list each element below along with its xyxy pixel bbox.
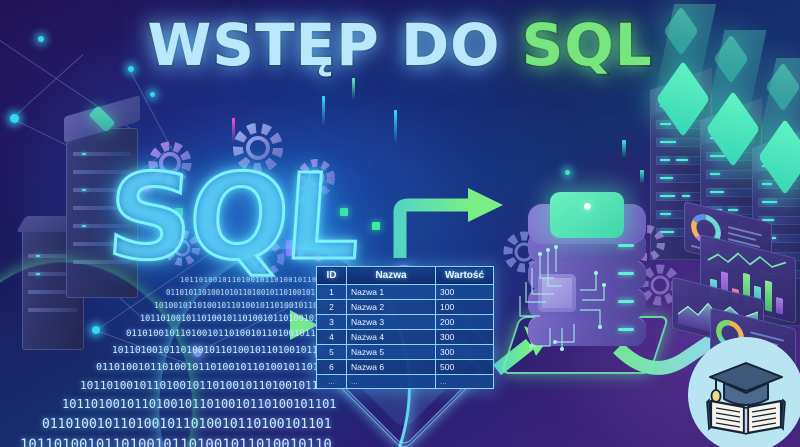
bar-chart-bar [776,297,783,315]
database-stack-icon [528,198,658,378]
table-row: 2Nazwa 2100 [317,300,494,315]
db-top-plate [550,192,624,238]
poster-canvas: WSTĘP DO SQL [0,0,800,447]
table-row: 1Nazwa 1300 [317,285,494,300]
column-header-wartosc: Wartość [436,267,494,285]
arrow-table-to-dbstack [400,188,503,258]
graduation-cap-icon [710,363,782,405]
table-row-ellipsis: ......... [317,375,494,389]
brand-logo-badge[interactable] [688,337,800,447]
table-row: 6Nazwa 6500 [317,360,494,375]
table-row: 5Nazwa 5300 [317,345,494,360]
table-header-row: ID Nazwa Wartość [317,267,494,285]
sql-result-table: ID Nazwa Wartość 1Nazwa 1300 2Nazwa 2100… [316,266,494,389]
bar-chart-bar [765,280,772,312]
table-row: 3Nazwa 3200 [317,315,494,330]
column-header-id: ID [317,267,347,285]
result-table-container: ID Nazwa Wartość 1Nazwa 1300 2Nazwa 2100… [316,266,494,389]
table-row: 4Nazwa 4300 [317,330,494,345]
column-header-nazwa: Nazwa [347,267,436,285]
circuit-traces [510,238,630,358]
